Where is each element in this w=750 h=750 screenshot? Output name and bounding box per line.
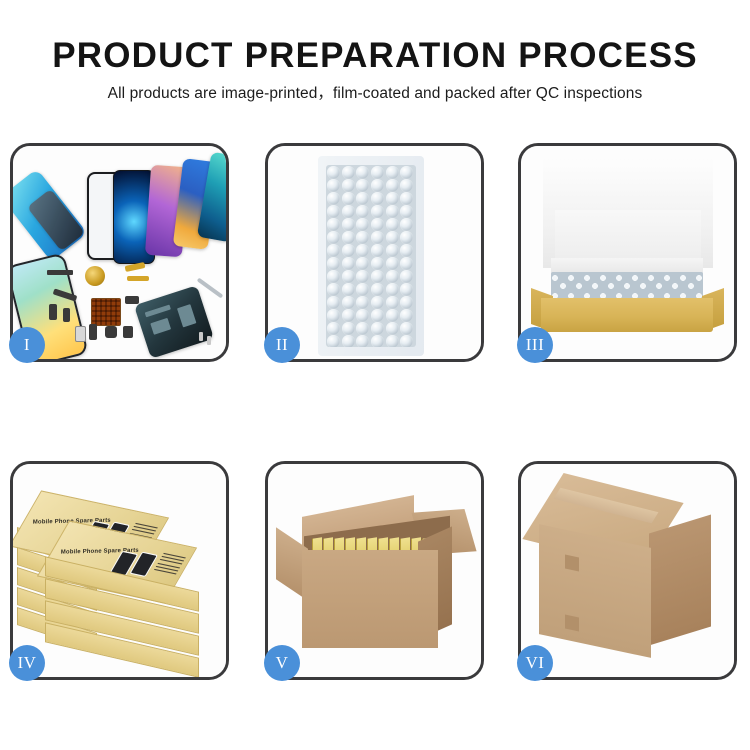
- product-preparation-infographic: PRODUCT PREPARATION PROCESS All products…: [0, 0, 750, 750]
- sealed-carton-front: [539, 524, 651, 658]
- bubble: [386, 192, 399, 205]
- bubble: [356, 322, 369, 335]
- bubble: [371, 270, 384, 283]
- bubble: [400, 244, 413, 257]
- mailer-box-lid: [543, 158, 713, 268]
- step-image-2: [268, 146, 481, 359]
- bubble: [386, 166, 399, 179]
- step-panel-6: VI: [518, 461, 737, 680]
- step-image-5: [268, 464, 481, 677]
- bubble: [371, 257, 384, 270]
- flex-cable-1: [47, 270, 73, 275]
- vibration-motor: [123, 326, 133, 338]
- bubble: [400, 335, 413, 347]
- carton-tab-upper: [565, 555, 579, 572]
- bubble: [400, 192, 413, 205]
- step-badge-1: I: [9, 327, 45, 363]
- bubble: [327, 322, 340, 335]
- step-panel-3: III: [518, 143, 737, 362]
- bubble: [327, 309, 340, 322]
- box-spec-lines: [153, 553, 186, 577]
- bubble: [386, 296, 399, 309]
- bubble: [371, 218, 384, 231]
- bubble: [327, 231, 340, 244]
- bubble: [342, 218, 355, 231]
- bubble: [356, 296, 369, 309]
- bubble: [342, 296, 355, 309]
- step-image-3: [521, 146, 734, 359]
- bubble: [371, 244, 384, 257]
- bubble: [327, 270, 340, 283]
- bubble: [327, 283, 340, 296]
- bubble: [342, 244, 355, 257]
- bubble: [386, 322, 399, 335]
- bubble: [386, 283, 399, 296]
- step-image-4: Mobile Phone Spare Parts Mobile Phone Sp…: [13, 464, 226, 677]
- bubble: [386, 179, 399, 192]
- bubble: [342, 270, 355, 283]
- bubble: [356, 218, 369, 231]
- bubble: [327, 166, 340, 179]
- sealed-carton-side: [649, 515, 711, 646]
- step-image-1: [13, 146, 226, 359]
- bubble: [356, 283, 369, 296]
- bubble: [342, 335, 355, 347]
- flex-cable-3: [89, 324, 97, 340]
- bubble: [342, 309, 355, 322]
- bubble-wrap-bag: [318, 156, 424, 356]
- bubble-grid: [326, 165, 416, 347]
- bubble: [327, 296, 340, 309]
- step-panel-1: I: [10, 143, 229, 362]
- connector-1: [49, 304, 57, 320]
- step-badge-2: II: [264, 327, 300, 363]
- bubble: [386, 309, 399, 322]
- bubble: [327, 257, 340, 270]
- carton-tab-lower: [565, 615, 579, 632]
- screw-2: [207, 336, 211, 345]
- battery-connector: [125, 296, 139, 304]
- bubble: [356, 244, 369, 257]
- bubble: [342, 283, 355, 296]
- bubble: [342, 322, 355, 335]
- bubble: [400, 179, 413, 192]
- bubble: [371, 179, 384, 192]
- bubble: [386, 205, 399, 218]
- bubble: [400, 218, 413, 231]
- carton-front-panel: [302, 550, 438, 648]
- bubble: [400, 296, 413, 309]
- bubble: [371, 192, 384, 205]
- step-image-6: [521, 464, 734, 677]
- bubble: [400, 270, 413, 283]
- screw-1: [199, 332, 203, 341]
- bubble: [386, 257, 399, 270]
- camera-module: [105, 326, 117, 338]
- bubble: [371, 166, 384, 179]
- step-panel-2: II: [265, 143, 484, 362]
- bubble: [356, 166, 369, 179]
- bubble: [356, 192, 369, 205]
- bubble: [386, 218, 399, 231]
- speaker-component: [85, 266, 105, 286]
- bubble: [356, 335, 369, 347]
- bubble: [371, 296, 384, 309]
- tweezers: [197, 278, 224, 299]
- bubble: [400, 257, 413, 270]
- copper-grid-component: [91, 298, 121, 326]
- bubble: [371, 309, 384, 322]
- bubble: [386, 270, 399, 283]
- bubble: [342, 231, 355, 244]
- bubble: [400, 166, 413, 179]
- mailer-box-front: [541, 298, 713, 332]
- bubble: [400, 205, 413, 218]
- bubble: [356, 257, 369, 270]
- bubble: [356, 309, 369, 322]
- bubble: [327, 218, 340, 231]
- step-badge-4: IV: [9, 645, 45, 681]
- bubble: [327, 192, 340, 205]
- retail-box-stack: Mobile Phone Spare Parts Mobile Phone Sp…: [15, 478, 226, 668]
- bubble: [356, 205, 369, 218]
- bubble: [400, 309, 413, 322]
- bubble: [356, 179, 369, 192]
- bubble: [371, 283, 384, 296]
- bubble: [327, 335, 340, 347]
- bubble: [356, 231, 369, 244]
- bubble: [371, 322, 384, 335]
- phone-teardown-body: [134, 285, 214, 359]
- bubble: [342, 205, 355, 218]
- step-panel-5: V: [265, 461, 484, 680]
- bubble: [342, 179, 355, 192]
- bubble: [327, 179, 340, 192]
- button-flex: [127, 276, 149, 281]
- bubble: [400, 231, 413, 244]
- bubble: [342, 166, 355, 179]
- bubble: [400, 322, 413, 335]
- bubble: [371, 335, 384, 347]
- bubble: [386, 335, 399, 347]
- bubble: [400, 283, 413, 296]
- bubble: [371, 205, 384, 218]
- bubble: [342, 192, 355, 205]
- bubble: [327, 205, 340, 218]
- step-badge-5: V: [264, 645, 300, 681]
- step-badge-3: III: [517, 327, 553, 363]
- bubble: [371, 231, 384, 244]
- step-badge-6: VI: [517, 645, 553, 681]
- bubble: [342, 257, 355, 270]
- bubble: [327, 244, 340, 257]
- phone-parts-scene: [13, 146, 226, 359]
- connector-2: [63, 308, 70, 322]
- steps-grid: I: [0, 0, 750, 750]
- bubble: [386, 231, 399, 244]
- sim-tray: [75, 326, 86, 342]
- step-panel-4: Mobile Phone Spare Parts Mobile Phone Sp…: [10, 461, 229, 680]
- bubble: [356, 270, 369, 283]
- bubble: [386, 244, 399, 257]
